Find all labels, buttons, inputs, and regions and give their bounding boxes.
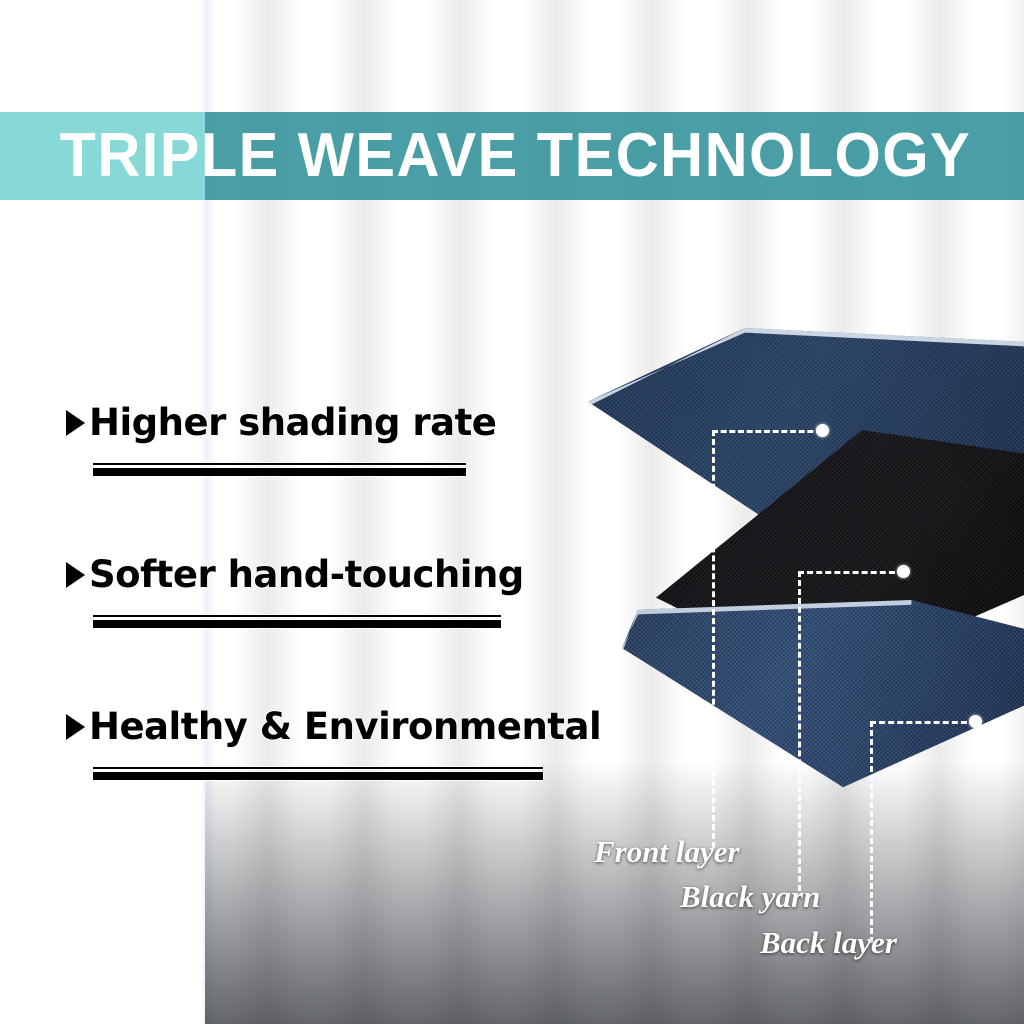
feature-item: Higher shading rate — [0, 404, 620, 556]
underline-thick — [92, 771, 544, 781]
fabric-layer-back — [622, 600, 1024, 840]
callout-leader-back-vertical — [870, 721, 873, 943]
page-title: TRIPLE WEAVE TECHNOLOGY — [0, 112, 983, 200]
triangle-bullet-icon — [66, 410, 85, 436]
triangle-bullet-icon — [66, 562, 85, 588]
feature-item: Softer hand-touching — [0, 556, 620, 708]
product-infographic: TRIPLE WEAVE TECHNOLOGY Higher shading r… — [0, 0, 1024, 1024]
feature-label: Healthy & Environmental — [89, 708, 601, 745]
feature-row: Healthy & Environmental — [66, 708, 601, 745]
underline-thick — [92, 467, 467, 477]
triangle-bullet-icon — [66, 714, 85, 740]
callout-leader-back-horizontal — [870, 721, 976, 724]
feature-label: Softer hand-touching — [89, 556, 524, 593]
layer-label-front: Front layer — [594, 834, 740, 870]
callout-leader-black-horizontal — [798, 571, 904, 574]
callout-leader-black-vertical — [798, 571, 801, 891]
callout-dot-black — [897, 565, 910, 578]
feature-item: Healthy & Environmental — [0, 708, 620, 860]
layer-label-back: Back layer — [760, 925, 897, 961]
feature-list: Higher shading rate Softer hand-touching… — [0, 404, 620, 860]
feature-row: Higher shading rate — [66, 404, 496, 441]
feature-underline — [92, 462, 467, 477]
fabric-layer-diagram — [560, 310, 1024, 870]
underline-thick — [92, 619, 502, 629]
callout-leader-front-horizontal — [712, 430, 822, 433]
feature-row: Softer hand-touching — [66, 556, 524, 593]
feature-underline — [92, 766, 544, 781]
title-banner: TRIPLE WEAVE TECHNOLOGY — [0, 112, 1024, 200]
callout-leader-front-vertical — [712, 430, 715, 848]
underline-thin — [92, 614, 502, 618]
feature-label: Higher shading rate — [89, 404, 496, 441]
layer-label-black-yarn: Black yarn — [680, 879, 820, 915]
callout-dot-back — [969, 715, 982, 728]
callout-dot-front — [816, 424, 829, 437]
underline-thin — [92, 766, 544, 770]
underline-thin — [92, 462, 467, 466]
feature-underline — [92, 614, 502, 629]
